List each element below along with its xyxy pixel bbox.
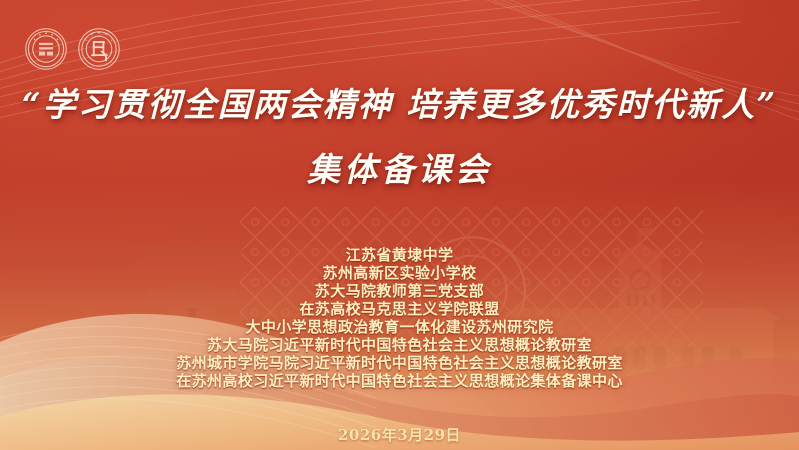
banner-subtitle: 集体备课会 bbox=[307, 143, 492, 191]
organization-line: 苏州高新区实验小学校 bbox=[0, 264, 799, 282]
event-banner: “学习贯彻全国两会精神 培养更多优秀时代新人” 集体备课会 江苏省黄埭中学 苏州… bbox=[0, 0, 799, 450]
subtitle-container: 集体备课会 bbox=[0, 143, 799, 191]
logo-group bbox=[24, 27, 121, 71]
organization-line: 苏州城市学院马院习近平新时代中国特色社会主义思想概论教研室 bbox=[0, 354, 799, 372]
event-date: 2026年3月29日 bbox=[338, 426, 461, 444]
organization-line: 江苏省黄埭中学 bbox=[0, 246, 799, 264]
headline-container: “学习贯彻全国两会精神 培养更多优秀时代新人” bbox=[0, 78, 799, 126]
top-ribbon-lines bbox=[0, 0, 799, 150]
organization-line: 大中小学思想政治教育一体化建设苏州研究院 bbox=[0, 318, 799, 336]
banner-title: “学习贯彻全国两会精神 培养更多优秀时代新人” bbox=[22, 78, 777, 126]
organization-line: 苏大马院教师第三党支部 bbox=[0, 282, 799, 300]
organization-line: 苏大马院习近平新时代中国特色社会主义思想概论教研室 bbox=[0, 336, 799, 354]
date-container: 2026年3月29日 bbox=[0, 424, 799, 445]
university-seal-icon bbox=[24, 27, 68, 71]
organization-line: 在苏高校马克思主义学院联盟 bbox=[0, 300, 799, 318]
ma-character-seal-icon bbox=[77, 27, 121, 71]
organization-line: 在苏州高校习近平新时代中国特色社会主义思想概论集体备课中心 bbox=[0, 372, 799, 390]
organization-list: 江苏省黄埭中学 苏州高新区实验小学校 苏大马院教师第三党支部 在苏高校马克思主义… bbox=[0, 246, 799, 390]
